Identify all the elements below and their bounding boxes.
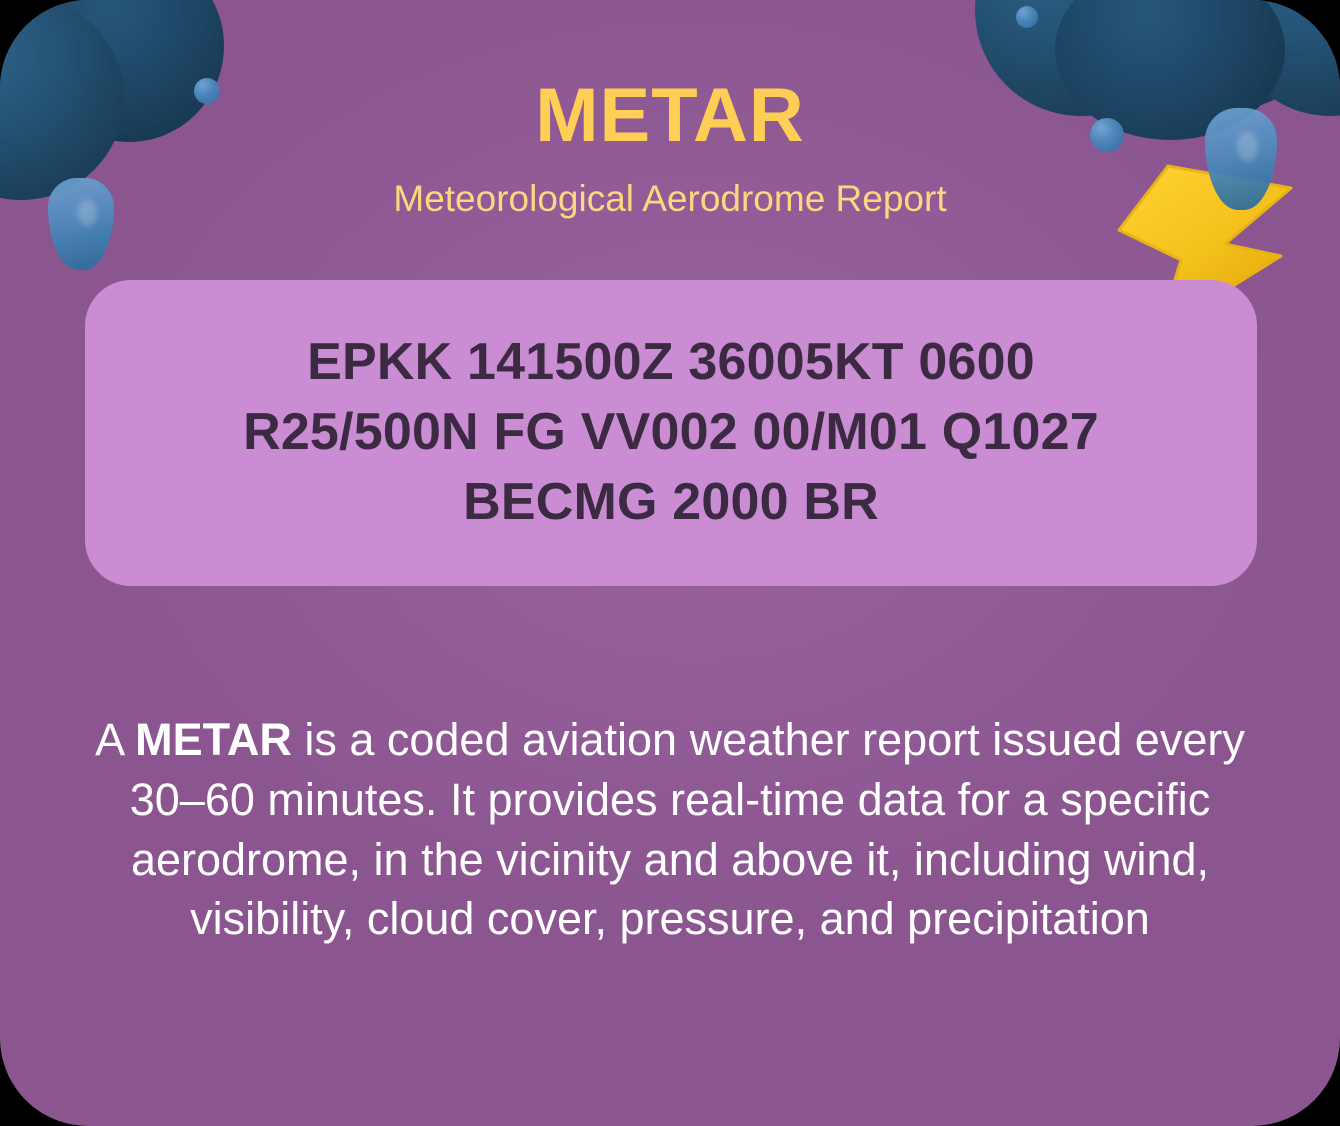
page-title: METAR	[0, 78, 1340, 154]
metar-code-panel: EPKK 141500Z 36005KT 0600 R25/500N FG VV…	[85, 280, 1257, 586]
card-header: METAR Meteorological Aerodrome Report	[0, 0, 1340, 217]
metar-code-text: EPKK 141500Z 36005KT 0600 R25/500N FG VV…	[199, 328, 1143, 537]
description-lead: A	[95, 714, 135, 765]
metar-info-card: METAR Meteorological Aerodrome Report EP…	[0, 0, 1340, 1126]
metar-description: A METAR is a coded aviation weather repo…	[70, 650, 1270, 949]
page-subtitle: Meteorological Aerodrome Report	[0, 180, 1340, 217]
description-body: is a coded aviation weather report issue…	[130, 714, 1245, 945]
description-emphasis: METAR	[135, 714, 292, 765]
